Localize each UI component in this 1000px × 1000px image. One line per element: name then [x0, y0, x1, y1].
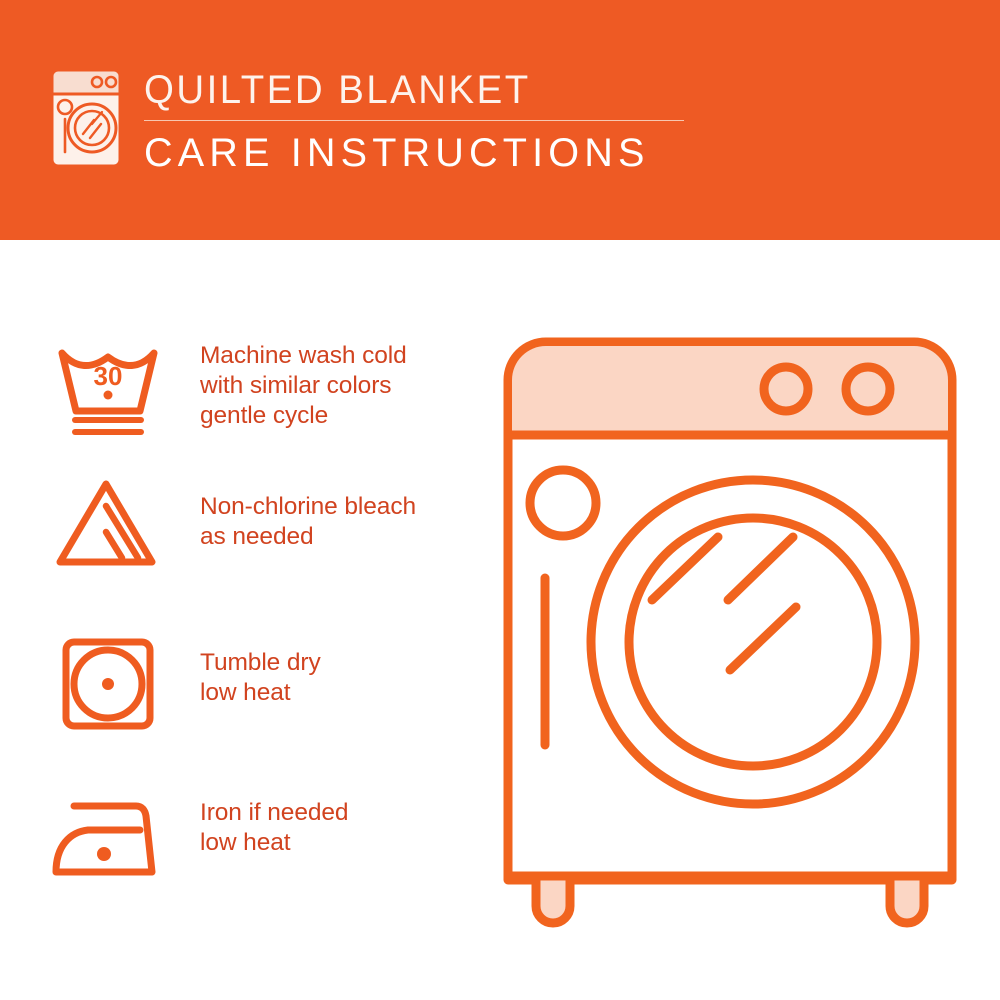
care-item-bleach-text: Non-chlorine bleach as needed [200, 492, 500, 552]
header-washing-machine-icon [42, 62, 132, 180]
wash-tub-30-gentle-icon: 30 [48, 335, 168, 445]
care-item-bleach: Non-chlorine bleach as needed [0, 472, 500, 602]
non-chlorine-bleach-triangle-icon [48, 470, 168, 580]
title-divider [144, 120, 684, 121]
header-banner: QUILTED BLANKET CARE INSTRUCTIONS [0, 0, 1000, 240]
care-text-line: low heat [200, 678, 500, 708]
care-instructions-infographic: QUILTED BLANKET CARE INSTRUCTIONS 30 Mac… [0, 0, 1000, 1000]
control-panel [512, 346, 948, 435]
tumble-dry-low-heat-icon [48, 630, 168, 740]
care-text-line: low heat [200, 828, 500, 858]
care-text-line: gentle cycle [200, 401, 500, 431]
care-text-line: Tumble dry [200, 648, 500, 678]
wash-temperature-label: 30 [94, 361, 123, 391]
care-text-line: Non-chlorine bleach [200, 492, 500, 522]
care-text-line: as needed [200, 522, 500, 552]
care-text-line: Iron if needed [200, 798, 500, 828]
header-title-group: QUILTED BLANKET CARE INSTRUCTIONS [144, 68, 704, 176]
care-item-tumble-dry-text: Tumble dry low heat [200, 648, 500, 708]
care-text-line: Machine wash cold [200, 341, 500, 371]
machine-leg [536, 876, 570, 923]
front-load-washing-machine-illustration [490, 325, 970, 940]
care-item-tumble-dry: Tumble dry low heat [0, 628, 500, 758]
care-text-line: with similar colors [200, 371, 500, 401]
care-item-machine-wash: 30 Machine wash cold with similar colors… [0, 335, 500, 465]
care-item-machine-wash-text: Machine wash cold with similar colors ge… [200, 341, 500, 431]
iron-low-heat-icon [48, 788, 168, 898]
page-title: QUILTED BLANKET [144, 68, 682, 112]
care-item-iron-text: Iron if needed low heat [200, 798, 500, 858]
page-subtitle: CARE INSTRUCTIONS [144, 130, 698, 176]
machine-leg [890, 876, 924, 923]
care-instruction-list: 30 Machine wash cold with similar colors… [0, 240, 500, 1000]
care-item-iron: Iron if needed low heat [0, 780, 500, 910]
